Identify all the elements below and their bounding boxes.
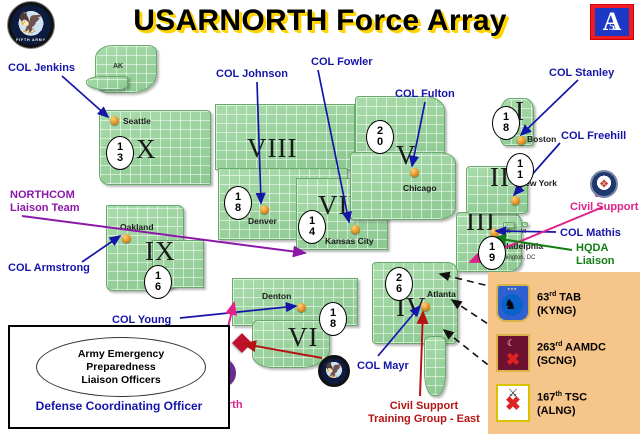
hqda-liaison-label: HQDA Liaison xyxy=(576,242,615,268)
city-dot-seattle xyxy=(110,116,119,125)
officer-label-col-fowler: COL Fowler xyxy=(311,56,373,68)
unit-label-63-tab: 63rd TAB (KYNG) xyxy=(537,288,581,318)
unit-type: AAMDC xyxy=(562,342,606,354)
badge-bottom: 9 xyxy=(489,253,495,264)
legend-line1: Army Emergency xyxy=(78,348,164,361)
unit-designation: 63 xyxy=(537,292,549,304)
city-dot-oakland xyxy=(122,234,131,243)
crossed-swords-patch-icon: ⚔✖ xyxy=(496,384,530,422)
unit-component: (SCNG) xyxy=(537,355,606,368)
northcom-liaison-line2: Liaison Team xyxy=(10,202,79,215)
badge-region-IX: 1 6 xyxy=(144,265,172,299)
unit-type: TAB xyxy=(556,292,581,304)
map-region-numeral-V: V xyxy=(396,140,417,171)
city-dot-denton xyxy=(297,303,306,312)
map-region-virgin-islands xyxy=(522,222,528,227)
pegasus-patch-icon: ★★★♞ xyxy=(496,284,530,322)
map-region-numeral-IX: IX xyxy=(145,236,176,267)
jtf-civil-support-seal-icon: ❖ xyxy=(590,170,618,198)
city-label-seattle: Seattle xyxy=(123,116,151,126)
supporting-units-panel: ★★★♞ 63rd TAB (KYNG) ☾✖ 263rd AAMDC (SCN… xyxy=(488,272,640,434)
city-dot-kansas-city xyxy=(351,225,360,234)
badge-region-I: 1 8 xyxy=(492,106,520,140)
city-label-denton: Denton xyxy=(262,291,291,301)
unit-ordinal: th xyxy=(555,391,562,398)
city-dot-boston xyxy=(517,136,526,145)
city-label-atlanta: Atlanta xyxy=(427,289,456,299)
unit-designation: 263 xyxy=(537,342,555,354)
unit-component: (ALNG) xyxy=(537,405,587,418)
city-dot-atlanta xyxy=(421,302,430,311)
crescent-missile-patch-icon: ☾✖ xyxy=(496,334,530,372)
hqda-liaison-line1: HQDA xyxy=(576,242,615,255)
map-region-numeral-VI: VI xyxy=(288,322,319,353)
map-region-numeral-VIII: VIII xyxy=(247,133,297,164)
badge-region-III: 1 9 xyxy=(478,236,506,270)
badge-region-IV: 2 6 xyxy=(385,267,413,301)
city-label-chicago: Chicago xyxy=(403,183,437,193)
fifth-army-hq-seal-icon: 🦅 xyxy=(318,355,350,387)
city-label-denver: Denver xyxy=(248,216,277,226)
badge-region-VIII: 1 8 xyxy=(224,186,252,220)
northcom-liaison-team-label: NORTHCOM Liaison Team xyxy=(10,189,79,215)
map-label-alaska: AK xyxy=(113,63,123,70)
officer-label-col-fulton: COL Fulton xyxy=(395,88,455,100)
badge-bottom: 1 xyxy=(517,170,523,181)
jtf-civil-support-line2: Civil Support xyxy=(570,201,638,214)
map-label-virgin-islands: VI xyxy=(521,229,526,235)
badge-region-VI: 1 8 xyxy=(319,302,347,336)
badge-bottom: 8 xyxy=(235,203,241,214)
badge-region-II: 1 1 xyxy=(506,153,534,187)
officer-label-col-armstrong: COL Armstrong xyxy=(8,262,90,274)
unit-label-263-aamdc: 263rd AAMDC (SCNG) xyxy=(537,338,606,368)
unit-row-263-aamdc: ☾✖ 263rd AAMDC (SCNG) xyxy=(496,334,606,372)
city-dot-chicago xyxy=(410,168,419,177)
hqda-liaison-line2: Liaison xyxy=(576,255,615,268)
city-dot-denver xyxy=(260,205,269,214)
northcom-liaison-line1: NORTHCOM xyxy=(10,189,79,202)
civil-support-training-group-label: Civil Support Training Group - East xyxy=(368,400,480,426)
fifth-army-seal-icon: 🦅 FIFTH ARMY xyxy=(8,2,54,48)
unit-component: (KYNG) xyxy=(537,305,581,318)
badge-bottom: 4 xyxy=(309,227,315,238)
badge-region-VII: 1 4 xyxy=(298,210,326,244)
map-region-puerto-rico xyxy=(503,222,515,228)
officer-label-col-stanley: COL Stanley xyxy=(549,67,614,79)
badge-bottom: 8 xyxy=(330,319,336,330)
officer-label-col-mathis: COL Mathis xyxy=(560,227,621,239)
city-label-oakland: Oakland xyxy=(120,222,154,232)
officer-label-col-johnson: COL Johnson xyxy=(216,68,288,80)
unit-row-167-tsc: ⚔✖ 167th TSC (ALNG) xyxy=(496,384,587,422)
officer-label-col-jenkins: COL Jenkins xyxy=(8,62,75,74)
badge-bottom: 6 xyxy=(396,284,402,295)
badge-bottom: 6 xyxy=(155,282,161,293)
badge-bottom: 8 xyxy=(503,123,509,134)
badge-bottom: 0 xyxy=(377,137,383,148)
officer-label-col-freehill: COL Freehill xyxy=(561,130,626,142)
legend-line3: Liaison Officers xyxy=(81,374,160,387)
map-label-puerto-rico: PR xyxy=(503,229,511,235)
badge-region-V: 2 0 xyxy=(366,120,394,154)
badge-region-X: 1 3 xyxy=(106,136,134,170)
unit-label-167-tsc: 167th TSC (ALNG) xyxy=(537,388,587,418)
page-title: USARNORTH Force Array xyxy=(0,4,640,38)
legend-line2: Preparedness xyxy=(86,361,155,374)
city-label-kansas-city: Kansas City xyxy=(325,236,374,246)
legend-box: Army Emergency Preparedness Liaison Offi… xyxy=(8,325,230,429)
map-region-numeral-X: X xyxy=(136,134,157,165)
cstg-line1: Civil Support xyxy=(368,400,480,413)
unit-type: TSC xyxy=(562,392,587,404)
unit-row-63-tab: ★★★♞ 63rd TAB (KYNG) xyxy=(496,284,581,322)
city-label-boston: Boston xyxy=(527,134,556,144)
a5-patch-number: 5 xyxy=(609,19,615,34)
officer-label-col-mayr: COL Mayr xyxy=(357,360,409,372)
fifth-army-hq-diamond-marker xyxy=(232,333,252,353)
fifth-army-seal-band: FIFTH ARMY xyxy=(11,38,51,42)
legend-caption-dco: Defense Coordinating Officer xyxy=(10,399,228,413)
unit-designation: 167 xyxy=(537,392,555,404)
legend-ellipse: Army Emergency Preparedness Liaison Offi… xyxy=(36,337,206,397)
map-region-alaska-tail xyxy=(86,76,128,90)
badge-bottom: 3 xyxy=(117,153,123,164)
cstg-line2: Training Group - East xyxy=(368,413,480,426)
city-dot-new-york xyxy=(511,196,520,205)
map-region-IV-florida xyxy=(424,336,446,396)
fifth-army-a5-patch-icon: A 5 xyxy=(590,4,634,40)
eagle-glyph: 🦅 xyxy=(18,13,44,34)
